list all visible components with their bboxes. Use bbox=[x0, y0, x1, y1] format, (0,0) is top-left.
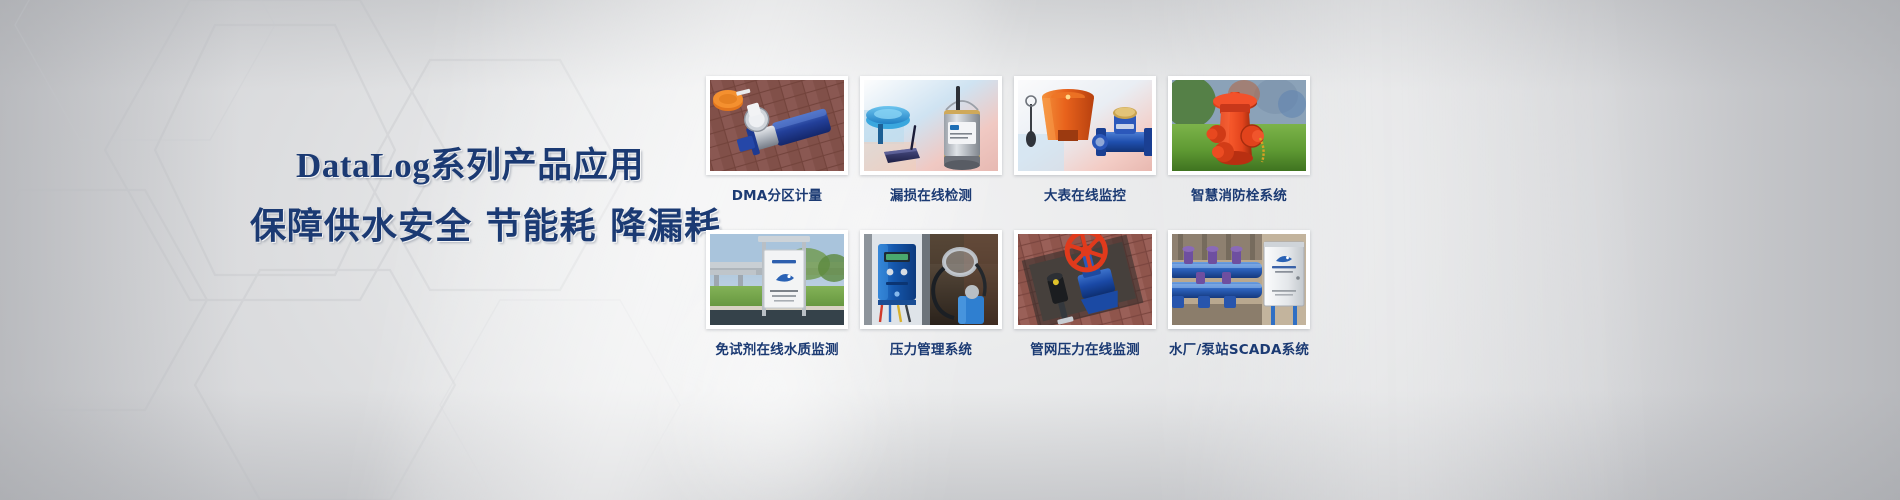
card-reagent-free-water-quality[interactable]: 免试剂在线水质监测 bbox=[706, 230, 848, 358]
card-leak-detection[interactable]: 漏损在线检测 bbox=[860, 76, 1002, 204]
image-red-fire-hydrant-on-grass bbox=[1172, 80, 1306, 171]
image-blue-leak-detector-and-data-logger bbox=[864, 80, 998, 171]
card-dma-metering[interactable]: DMA分区计量 bbox=[706, 76, 848, 204]
image-pump-station-blue-pipes-and-scada-cabinet bbox=[1172, 234, 1306, 325]
headline-line-1: DataLog系列产品应用 bbox=[250, 148, 690, 183]
card-caption: 智慧消防栓系统 bbox=[1168, 184, 1310, 204]
image-blue-pressure-control-cabinet bbox=[864, 234, 998, 325]
banner-root: DataLog系列产品应用 保障供水安全 节能耗 降漏耗 bbox=[0, 0, 1900, 500]
headline-block: DataLog系列产品应用 保障供水安全 节能耗 降漏耗 bbox=[250, 148, 690, 245]
thumbnail-frame[interactable] bbox=[1168, 76, 1310, 175]
thumbnail-frame[interactable] bbox=[1014, 230, 1156, 329]
image-blue-flow-meter-valve-on-brick-paving bbox=[710, 80, 844, 171]
card-caption: 漏损在线检测 bbox=[860, 184, 1002, 204]
thumbnail-frame[interactable] bbox=[706, 76, 848, 175]
card-caption: 水厂/泵站SCADA系统 bbox=[1168, 338, 1310, 358]
card-pressure-management-system[interactable]: 压力管理系统 bbox=[860, 230, 1002, 358]
image-water-quality-monitoring-station-sign bbox=[710, 234, 844, 325]
image-red-handwheel-valve-in-brick-chamber bbox=[1018, 234, 1152, 325]
thumbnail-frame[interactable] bbox=[860, 230, 1002, 329]
card-large-meter-monitoring[interactable]: 大表在线监控 bbox=[1014, 76, 1156, 204]
card-row-1: DMA分区计量 bbox=[706, 76, 1846, 204]
product-card-grid: DMA分区计量 bbox=[706, 76, 1846, 358]
thumbnail-frame[interactable] bbox=[706, 230, 848, 329]
card-caption: 大表在线监控 bbox=[1014, 184, 1156, 204]
background-vignette-left bbox=[0, 0, 240, 500]
card-smart-hydrant-system[interactable]: 智慧消防栓系统 bbox=[1168, 76, 1310, 204]
headline-line-2: 保障供水安全 节能耗 降漏耗 bbox=[250, 209, 690, 245]
thumbnail-frame[interactable] bbox=[1168, 230, 1310, 329]
thumbnail-frame[interactable] bbox=[1014, 76, 1156, 175]
thumbnail-frame[interactable] bbox=[860, 76, 1002, 175]
card-caption: DMA分区计量 bbox=[706, 184, 848, 204]
card-caption: 压力管理系统 bbox=[860, 338, 1002, 358]
card-network-pressure-monitoring[interactable]: 管网压力在线监测 bbox=[1014, 230, 1156, 358]
card-caption: 免试剂在线水质监测 bbox=[706, 338, 848, 358]
image-orange-chamber-cap-and-blue-bulk-water-meter bbox=[1018, 80, 1152, 171]
card-row-2: 免试剂在线水质监测 bbox=[706, 230, 1846, 358]
card-scada-system[interactable]: 水厂/泵站SCADA系统 bbox=[1168, 230, 1310, 358]
card-caption: 管网压力在线监测 bbox=[1014, 338, 1156, 358]
